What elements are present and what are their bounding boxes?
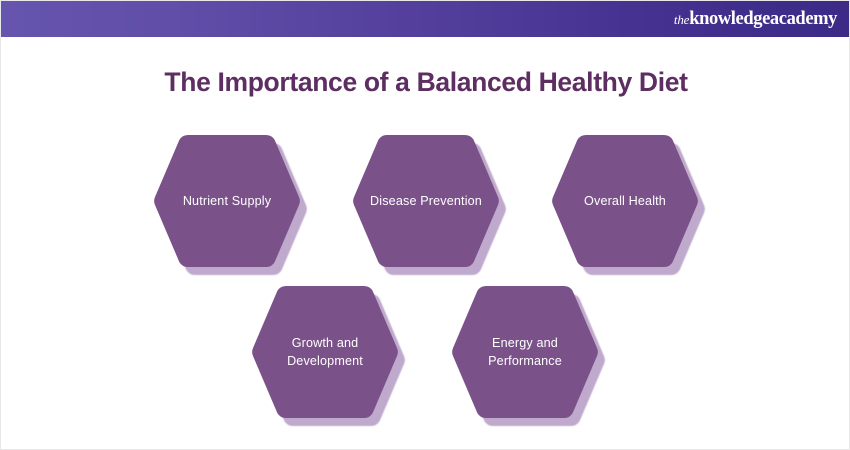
hexagon-node-overall-health[interactable]: Overall Health [547, 131, 703, 271]
hexagon-node-energy-performance[interactable]: Energy and Performance [447, 282, 603, 422]
hexagon-label: Disease Prevention [348, 131, 504, 271]
hexagon-node-growth-development[interactable]: Growth and Development [247, 282, 403, 422]
hexagon-node-disease-prevention[interactable]: Disease Prevention [348, 131, 504, 271]
hexagon-label: Energy and Performance [447, 282, 603, 422]
hexagon-label: Overall Health [547, 131, 703, 271]
hexagon-label: Growth and Development [247, 282, 403, 422]
hexagon-diagram: Nutrient Supply Disease Prevention Overa… [1, 1, 850, 450]
hexagon-node-nutrient-supply[interactable]: Nutrient Supply [149, 131, 305, 271]
hexagon-label: Nutrient Supply [149, 131, 305, 271]
infographic-page: theknowledgeacademy The Importance of a … [0, 0, 850, 450]
